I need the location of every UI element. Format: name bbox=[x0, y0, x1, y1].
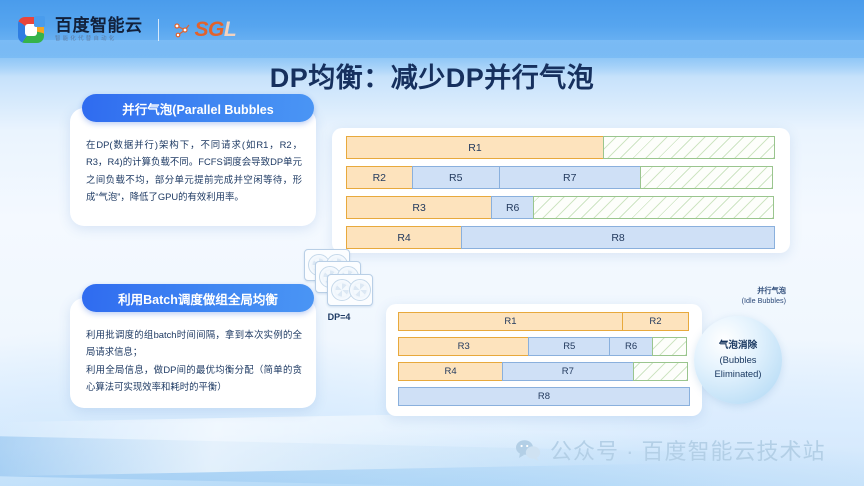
bubbles-eliminated-en-1: (Bubbles bbox=[719, 353, 756, 367]
card-body-line-1: 利用批调度的组batch时间间隔，拿到本次实例的全局请求信息； bbox=[86, 326, 302, 361]
gantt-segment-r1: R1 bbox=[346, 136, 604, 159]
gantt-row: R3R6 bbox=[346, 196, 776, 219]
gantt-segment-r3: R3 bbox=[346, 196, 492, 219]
gantt-segment-r2: R2 bbox=[346, 166, 413, 189]
brand-tagline: 智能化代替自动化 bbox=[55, 37, 143, 42]
gantt-segment-r8: R8 bbox=[461, 226, 775, 249]
sglang-node-icon bbox=[174, 21, 192, 39]
wechat-icon bbox=[515, 439, 541, 461]
bubbles-eliminated-en-2: Eliminated) bbox=[715, 367, 762, 381]
card-body-text: 在DP(数据并行)架构下，不同请求(如R1，R2，R3，R4)的计算负载不同。F… bbox=[86, 136, 302, 206]
idle-bubbles-annotation: 并行气泡 (Idle Bubbles) bbox=[700, 286, 786, 305]
gantt-row: R4R7 bbox=[398, 362, 690, 381]
gantt-row: R3R5R6 bbox=[398, 337, 690, 356]
card-pill-batch-balance: 利用Batch调度做组全局均衡 bbox=[82, 284, 314, 312]
idle-bubbles-en: (Idle Bubbles) bbox=[700, 296, 786, 306]
gpu-card-stack-icon bbox=[304, 249, 374, 313]
gantt-segment-r4: R4 bbox=[398, 362, 503, 381]
watermark-text: 公众号 · 百度智能云技术站 bbox=[550, 434, 826, 466]
gantt-segment-idle bbox=[603, 136, 775, 159]
slide-canvas: 百度智能云 智能化代替自动化 SGL DP均衡：减少DP并行气泡 并 bbox=[0, 0, 864, 486]
card-body-parallel-bubbles: 在DP(数据并行)架构下，不同请求(如R1，R2，R3，R4)的计算负载不同。F… bbox=[86, 136, 302, 206]
bubbles-eliminated-cn: 气泡消除 bbox=[719, 339, 757, 353]
gantt-track: R3R5R6 bbox=[398, 337, 690, 356]
gantt-segment-r2: R2 bbox=[622, 312, 689, 331]
gantt-track: R3R6 bbox=[346, 196, 776, 219]
brand-text: 百度智能云 智能化代替自动化 bbox=[55, 17, 143, 42]
gantt-track: R2R5R7 bbox=[346, 166, 776, 189]
gantt-row: R2R5R7 bbox=[346, 166, 776, 189]
gantt-row: R4R8 bbox=[346, 226, 776, 249]
dp-count-label: DP=4 bbox=[304, 312, 374, 322]
gantt-segment-idle bbox=[633, 362, 688, 381]
gantt-segment-r4: R4 bbox=[346, 226, 462, 249]
gantt-segment-r7: R7 bbox=[499, 166, 641, 189]
gantt-segment-r8: R8 bbox=[398, 387, 690, 406]
gantt-panel-unbalanced: R1R2R5R7R3R6R4R8 并行气泡 (Idle Bubbles) bbox=[332, 128, 790, 253]
brand-divider bbox=[158, 19, 159, 41]
gantt-track: R8 bbox=[398, 387, 690, 406]
gantt-row: R8 bbox=[398, 387, 690, 406]
gantt-segment-idle bbox=[652, 337, 687, 356]
gantt-segment-r5: R5 bbox=[412, 166, 500, 189]
gantt-segment-r6: R6 bbox=[491, 196, 534, 219]
gantt-row: R1 bbox=[346, 136, 776, 159]
brand-name-cn: 百度智能云 bbox=[55, 17, 143, 34]
gantt-track: R4R7 bbox=[398, 362, 690, 381]
card-body-batch-balance: 利用批调度的组batch时间间隔，拿到本次实例的全局请求信息； 利用全局信息，做… bbox=[86, 326, 302, 396]
gantt-segment-r3: R3 bbox=[398, 337, 529, 356]
gantt-segment-r6: R6 bbox=[609, 337, 653, 356]
sglang-logo: SGL bbox=[174, 18, 237, 42]
baidu-cloud-logo-icon bbox=[18, 17, 44, 43]
gantt-track: R4R8 bbox=[346, 226, 776, 249]
card-parallel-bubbles: 并行气泡(Parallel Bubbles 在DP(数据并行)架构下，不同请求(… bbox=[70, 108, 316, 226]
gantt-segment-r7: R7 bbox=[502, 362, 633, 381]
card-batch-balance: 利用Batch调度做组全局均衡 利用批调度的组batch时间间隔，拿到本次实例的… bbox=[70, 298, 316, 408]
idle-bubbles-cn: 并行气泡 bbox=[700, 286, 786, 296]
gantt-segment-r1: R1 bbox=[398, 312, 623, 331]
page-title: DP均衡：减少DP并行气泡 bbox=[0, 56, 864, 95]
gantt-panel-balanced: R1R2R3R5R6R4R7R8 bbox=[386, 304, 702, 416]
bubbles-eliminated-badge: 气泡消除 (Bubbles Eliminated) bbox=[694, 316, 782, 404]
gantt-segment-idle bbox=[640, 166, 773, 189]
gantt-segment-r5: R5 bbox=[528, 337, 610, 356]
sglang-l: L bbox=[224, 18, 236, 41]
gantt-track: R1 bbox=[346, 136, 776, 159]
watermark: 公众号 · 百度智能云技术站 bbox=[515, 434, 826, 466]
gantt-track: R1R2 bbox=[398, 312, 690, 331]
brand-bar: 百度智能云 智能化代替自动化 SGL bbox=[18, 14, 236, 46]
sglang-wordmark: SGL bbox=[195, 18, 237, 42]
card-pill-parallel-bubbles: 并行气泡(Parallel Bubbles bbox=[82, 94, 314, 122]
gantt-row: R1R2 bbox=[398, 312, 690, 331]
card-body-line-2: 利用全局信息，做DP间的最优均衡分配（简单的贪心算法可实现效率和耗时的平衡） bbox=[86, 361, 302, 396]
sglang-sg: SG bbox=[195, 18, 224, 41]
gantt-segment-idle bbox=[533, 196, 774, 219]
